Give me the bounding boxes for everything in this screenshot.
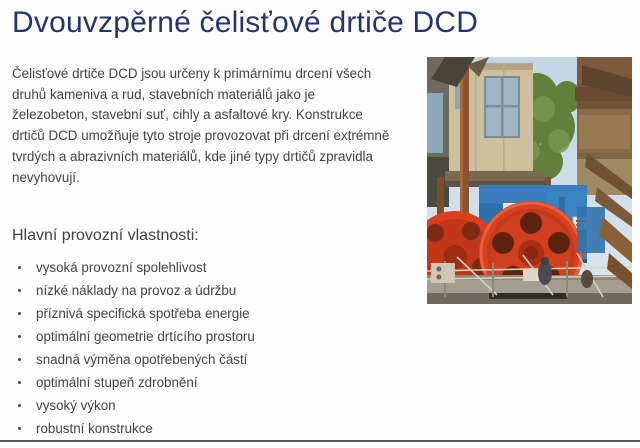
list-item: vysoký výkon — [12, 394, 392, 417]
list-item-label: snadná výměna opotřebených částí — [36, 352, 247, 367]
list-item-label: vysoký výkon — [36, 398, 116, 413]
list-item: nízké náklady na provoz a údržbu — [12, 279, 392, 302]
list-item: optimální stupeň zdrobnění — [12, 371, 392, 394]
bullet-dot-icon — [18, 358, 21, 361]
list-item-label: vysoká provozní spolehlivost — [36, 260, 206, 275]
list-item-label: příznivá specifická spotřeba energie — [36, 306, 250, 321]
footer-divider — [0, 440, 640, 442]
features-list: vysoká provozní spolehlivost nízké nákla… — [12, 256, 392, 440]
bullet-dot-icon — [18, 312, 21, 315]
bullet-dot-icon — [18, 335, 21, 338]
intro-paragraph: Čelisťové drtiče DCD jsou určeny k primá… — [12, 64, 390, 188]
list-item: optimální geometrie drtícího prostoru — [12, 325, 392, 348]
slide-canvas: Dvouvzpěrné čelisťové drtiče DCD Čelisťo… — [0, 0, 640, 448]
features-heading: Hlavní provozní vlastnosti: — [12, 226, 199, 246]
page-title: Dvouvzpěrné čelisťové drtiče DCD — [12, 4, 478, 42]
list-item-label: nízké náklady na provoz a údržbu — [36, 283, 236, 298]
list-item-label: optimální geometrie drtícího prostoru — [36, 329, 255, 344]
list-item-label: optimální stupeň zdrobnění — [36, 375, 198, 390]
list-item: snadná výměna opotřebených částí — [12, 348, 392, 371]
bullet-dot-icon — [18, 289, 21, 292]
jaw-crusher-photo — [427, 57, 632, 304]
bullet-dot-icon — [18, 266, 21, 269]
list-item: příznivá specifická spotřeba energie — [12, 302, 392, 325]
list-item-label: robustní konstrukce — [36, 421, 153, 436]
bullet-dot-icon — [18, 381, 21, 384]
bullet-dot-icon — [18, 427, 21, 430]
list-item: robustní konstrukce — [12, 417, 392, 440]
list-item: vysoká provozní spolehlivost — [12, 256, 392, 279]
bullet-dot-icon — [18, 404, 21, 407]
